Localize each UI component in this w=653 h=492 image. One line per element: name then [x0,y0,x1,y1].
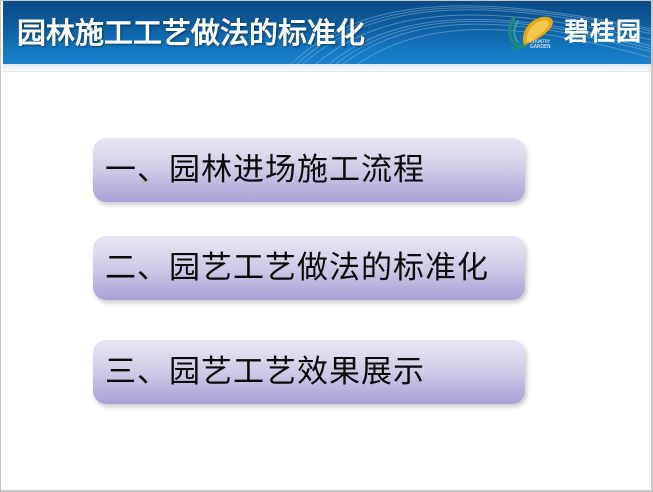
logo-garden-text: GARDEN [530,44,551,50]
agenda-item-1[interactable]: 一、园林进场施工流程 [93,138,525,202]
swirl-leaf-logo-icon: COUNTRY GARDEN [502,12,558,52]
agenda-item-2-label: 二、园艺工艺做法的标准化 [105,250,489,286]
agenda-item-1-label: 一、园林进场施工流程 [105,152,425,188]
header-underline-edge [3,71,652,72]
header-underline-strip [3,64,652,71]
agenda-item-3[interactable]: 三、园艺工艺效果展示 [93,340,525,404]
page-title: 园林施工工艺做法的标准化 [17,17,365,50]
agenda-item-3-label: 三、园艺工艺效果展示 [105,354,425,390]
logo-country-text: COUNTRY [530,39,551,44]
slide-header-banner: 园林施工工艺做法的标准化 COUNTRY GARDEN 碧桂园 [3,1,652,64]
brand-name: 碧桂园 [564,18,642,46]
agenda-item-2[interactable]: 二、园艺工艺做法的标准化 [93,236,525,300]
brand-logo: COUNTRY GARDEN 碧桂园 [502,10,642,54]
slide-canvas: 园林施工工艺做法的标准化 COUNTRY GARDEN 碧桂园 一、园林进场施工… [0,0,653,492]
